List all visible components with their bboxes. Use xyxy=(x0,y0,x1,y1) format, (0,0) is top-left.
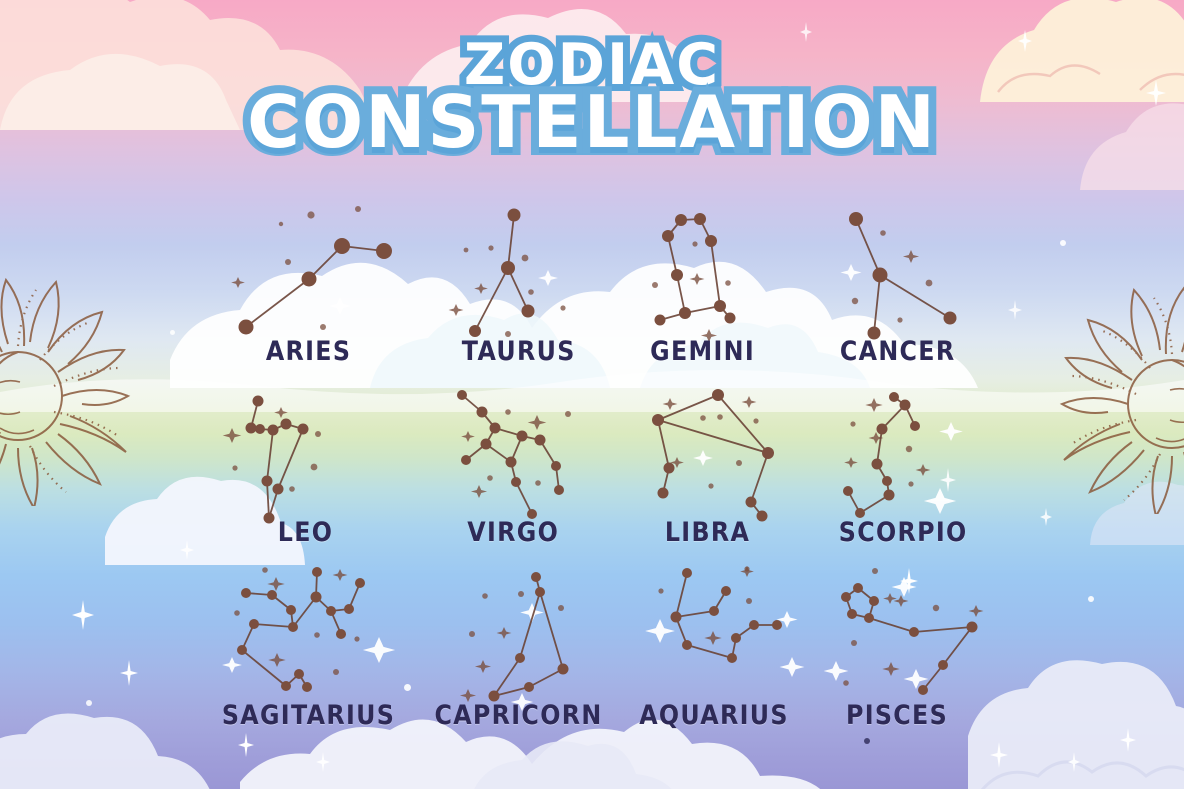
constellation-virgo[interactable] xyxy=(452,388,622,533)
constellation-label-aries: ARIES xyxy=(266,336,351,367)
title-line-constellation: CONSTELLATION xyxy=(0,88,1184,156)
constellation-pisces[interactable] xyxy=(832,565,1002,710)
constellation-sagitarius[interactable] xyxy=(232,565,402,710)
constellation-label-scorpio: SCORPIO xyxy=(838,517,967,548)
constellation-label-taurus: TAURUS xyxy=(462,336,576,367)
constellation-label-aquarius: AQUARIUS xyxy=(639,700,789,731)
constellation-scorpio[interactable] xyxy=(832,388,1002,533)
constellation-label-cancer: CANCER xyxy=(840,336,956,367)
constellation-cancer[interactable] xyxy=(832,205,1002,350)
constellation-leo[interactable] xyxy=(232,388,402,533)
constellation-label-sagitarius: SAGITARIUS xyxy=(222,700,395,731)
poster-title: ZODIAC CONSTELLATION xyxy=(0,38,1184,157)
constellation-gemini[interactable] xyxy=(650,205,820,350)
constellation-taurus[interactable] xyxy=(452,205,622,350)
constellation-aquarius[interactable] xyxy=(650,565,820,710)
constellation-label-pisces: PISCES xyxy=(846,700,948,731)
constellation-aries[interactable] xyxy=(232,205,402,350)
poster-canvas: ZODIAC CONSTELLATION ARIESTAURUSGEMINICA… xyxy=(0,0,1184,789)
constellation-capricorn[interactable] xyxy=(452,565,622,710)
constellation-label-leo: LEO xyxy=(278,517,334,548)
constellation-libra[interactable] xyxy=(650,388,820,533)
constellation-label-gemini: GEMINI xyxy=(650,336,755,367)
constellation-label-capricorn: CAPRICORN xyxy=(434,700,602,731)
constellation-label-virgo: VIRGO xyxy=(467,517,559,548)
constellation-label-libra: LIBRA xyxy=(665,517,750,548)
